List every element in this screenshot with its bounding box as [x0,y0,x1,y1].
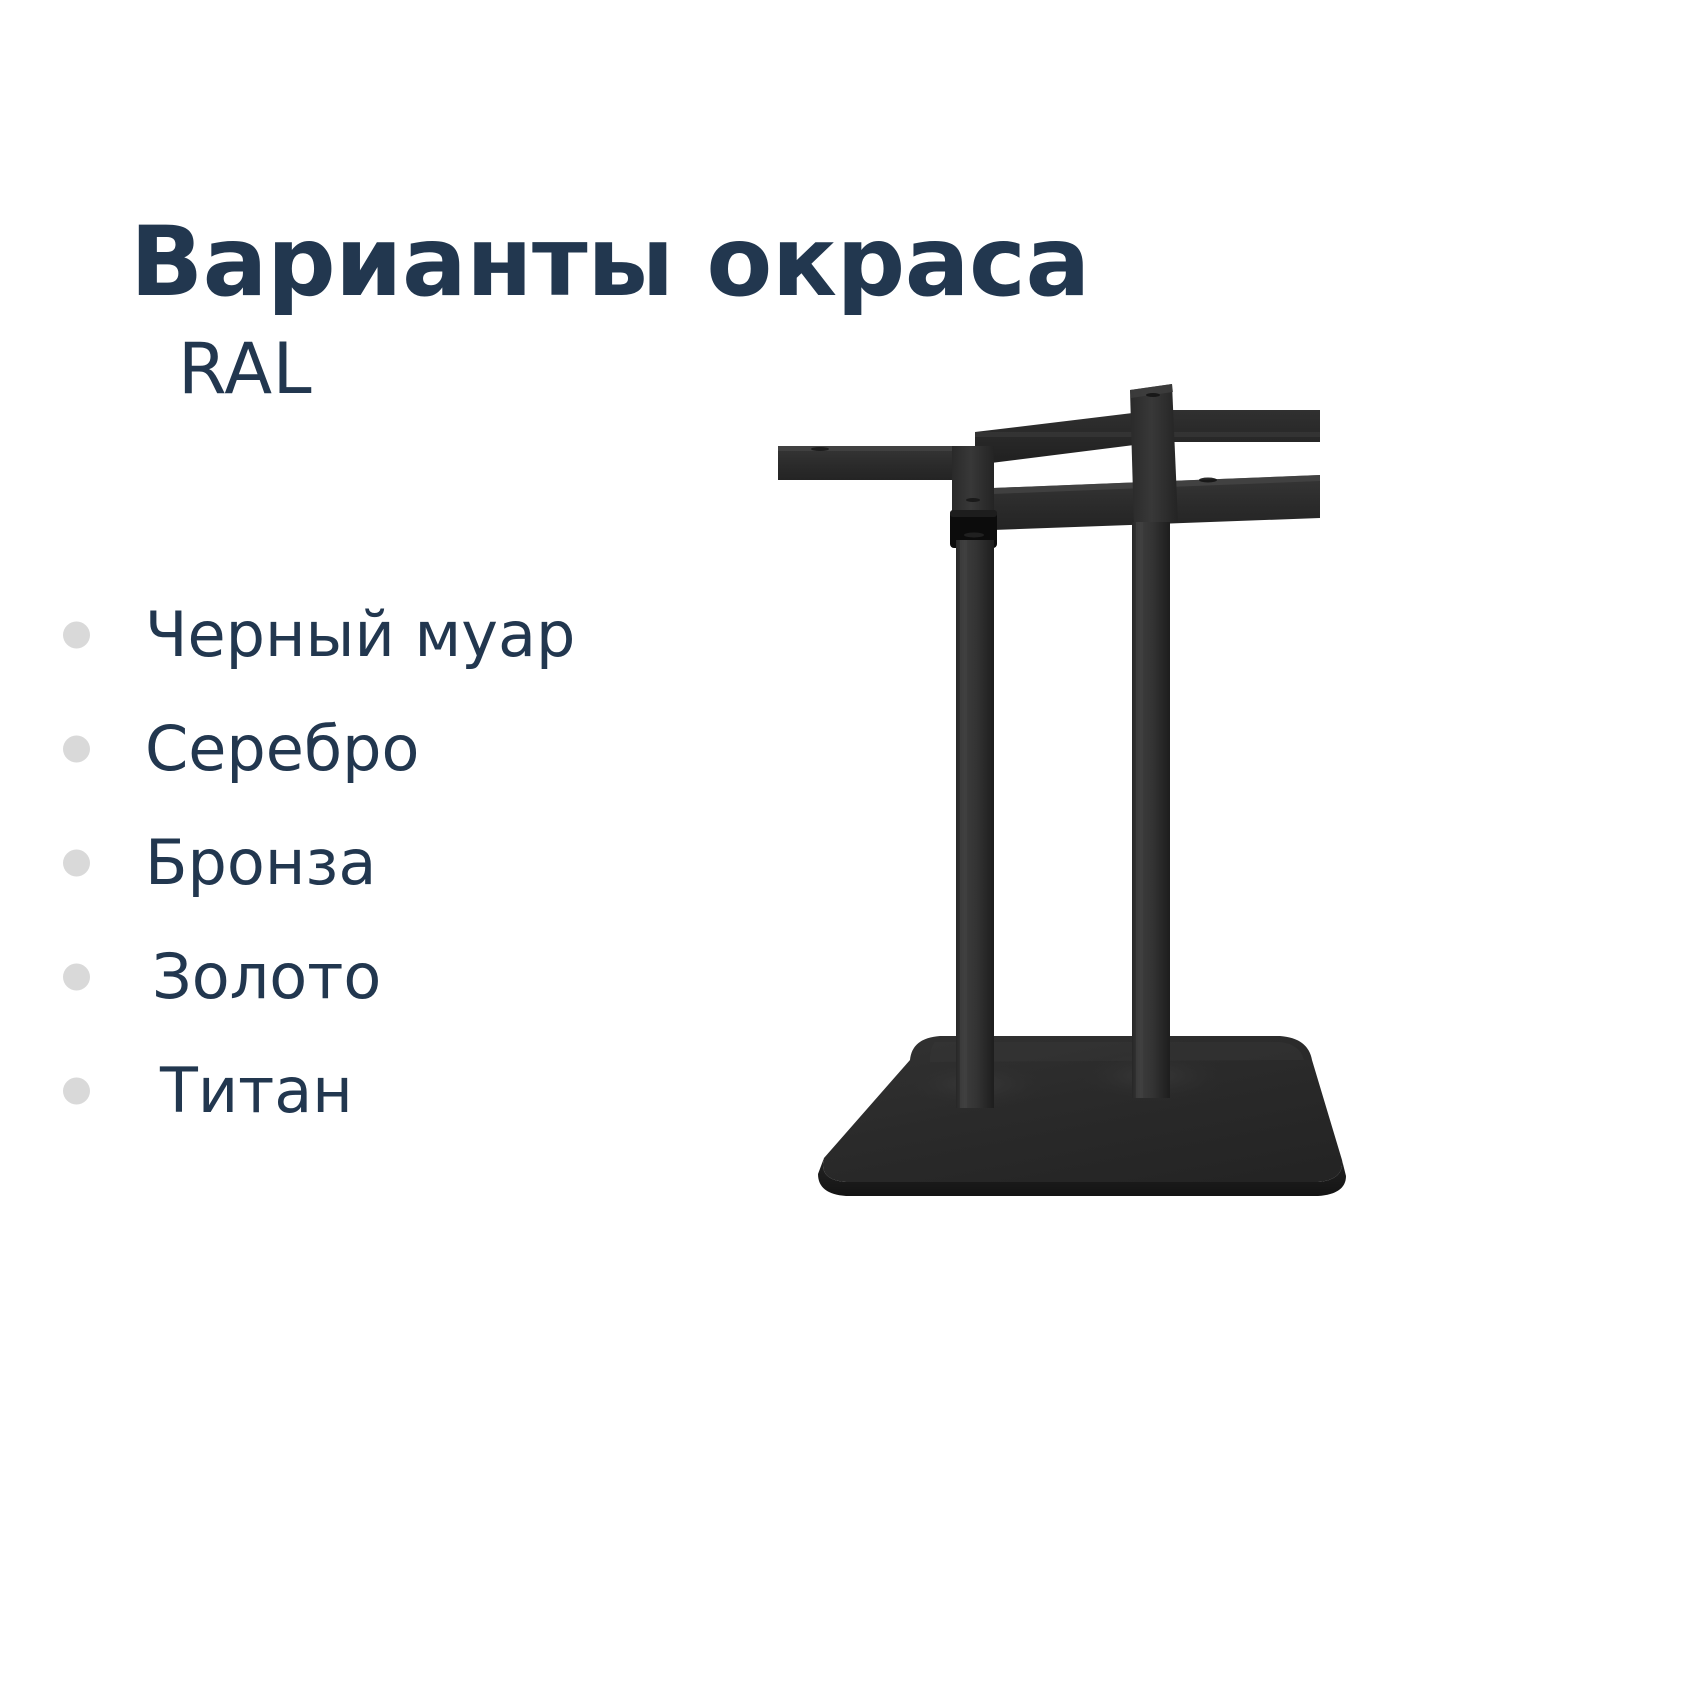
option-label: Титан [160,1060,353,1122]
list-item[interactable]: Титан [0,1034,760,1148]
bullet-dot-icon [63,1078,90,1105]
list-item[interactable]: Серебро [0,692,760,806]
bullet-dot-icon [63,736,90,763]
subtitle-ral: RAL [178,333,312,407]
bracket-left [950,446,997,548]
option-label: Бронза [145,832,376,894]
list-item[interactable]: Черный муар [0,578,760,692]
bracket-right [1130,384,1178,528]
product-image [760,370,1400,1220]
bullet-dot-icon [63,622,90,649]
option-label: Черный муар [145,604,575,666]
option-label: Серебро [145,718,419,780]
option-label: Золото [152,946,381,1008]
slide-canvas: Варианты окраса RAL Черный муар Серебро … [0,0,1700,1700]
base-plate [818,1036,1346,1196]
column-right [1132,522,1170,1102]
column-left [956,540,994,1105]
color-options-list: Черный муар Серебро Бронза Золото Титан [0,578,760,1148]
list-item[interactable]: Золото [0,920,760,1034]
bullet-dot-icon [63,850,90,877]
bullet-dot-icon [63,964,90,991]
table-base-illustration [760,370,1400,1220]
page-title: Варианты окраса [130,212,1090,313]
list-item[interactable]: Бронза [0,806,760,920]
